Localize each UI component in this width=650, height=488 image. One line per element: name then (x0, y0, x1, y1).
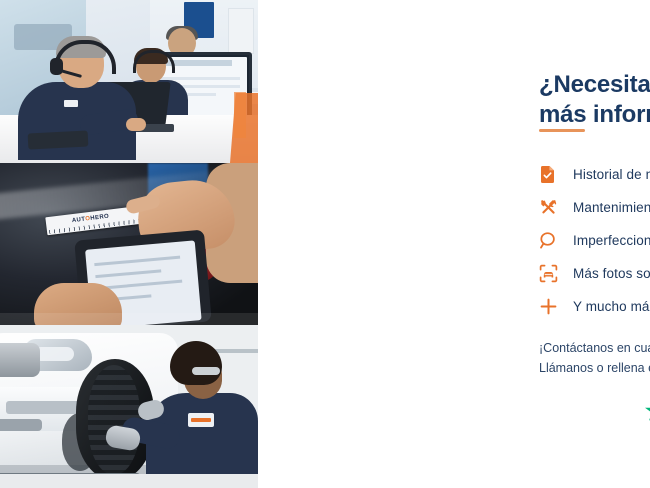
headline-line-1: ¿Necesitas (539, 71, 650, 98)
magnifier-icon (539, 231, 573, 250)
feature-item-imperfecciones: Imperfecciones (539, 224, 650, 257)
contact-copy: ¡Contáctanos en cualquier momento para m… (539, 338, 650, 379)
contact-line-1: ¡Contáctanos en cualquier momento para m… (539, 341, 650, 355)
mechanic-wheel-inspection-photo (0, 325, 258, 488)
car-inspection-ruler-photo: AUTOHERO (0, 163, 258, 325)
feature-label: Historial de mantenimientos (573, 167, 650, 182)
feature-list: Historial de mantenimientos Mantenimient… (539, 158, 650, 323)
plus-icon (539, 297, 573, 316)
feature-label: Mantenimiento realizado (573, 200, 650, 215)
ruler-brand-part1: AUT (72, 217, 86, 225)
mechanic-person (140, 341, 258, 488)
call-center-agents-photo (0, 0, 258, 163)
paper-sheet-decor (228, 8, 254, 54)
crossed-tools-icon (539, 198, 573, 217)
headline-line-2: más información? (539, 101, 650, 128)
photo-collage: AUTOHERO (0, 0, 258, 488)
uniform-logo-decor (188, 413, 214, 427)
content-panel: ¿Necesitas más información? Estamos enca… (258, 0, 650, 488)
checklist-document-icon (539, 165, 573, 184)
contact-line-2: Llámanos o rellena el formulario de cont… (539, 361, 650, 375)
title-divider (539, 129, 585, 132)
feature-item-historial: Historial de mantenimientos (539, 158, 650, 191)
ruler-brand-part3: HERO (90, 214, 110, 222)
feature-item-mas: Y mucho más (539, 290, 650, 323)
feature-label: Imperfecciones (573, 233, 650, 248)
trustpilot-star-icon (645, 400, 650, 426)
orange-strip-decor (234, 92, 246, 138)
car-scan-icon (539, 264, 573, 283)
trustpilot-logo: Trustpilot (645, 400, 650, 426)
safety-glasses-decor (192, 367, 220, 375)
front-grille-decor (0, 343, 40, 377)
desk-tablet-decor (28, 130, 89, 149)
page-title: ¿Necesitas más información? (539, 70, 650, 130)
feature-item-fotos: Más fotos sobre el coche (539, 257, 650, 290)
feature-label: Más fotos sobre el coche (573, 266, 650, 281)
feature-label: Y mucho más (573, 299, 650, 314)
feature-item-mantenimiento: Mantenimiento realizado (539, 191, 650, 224)
information-request-banner: AUTOHERO (0, 0, 650, 488)
trustpilot-widget[interactable]: Trustpilot Excelente EMPRESA VERIFICADA (645, 391, 650, 447)
